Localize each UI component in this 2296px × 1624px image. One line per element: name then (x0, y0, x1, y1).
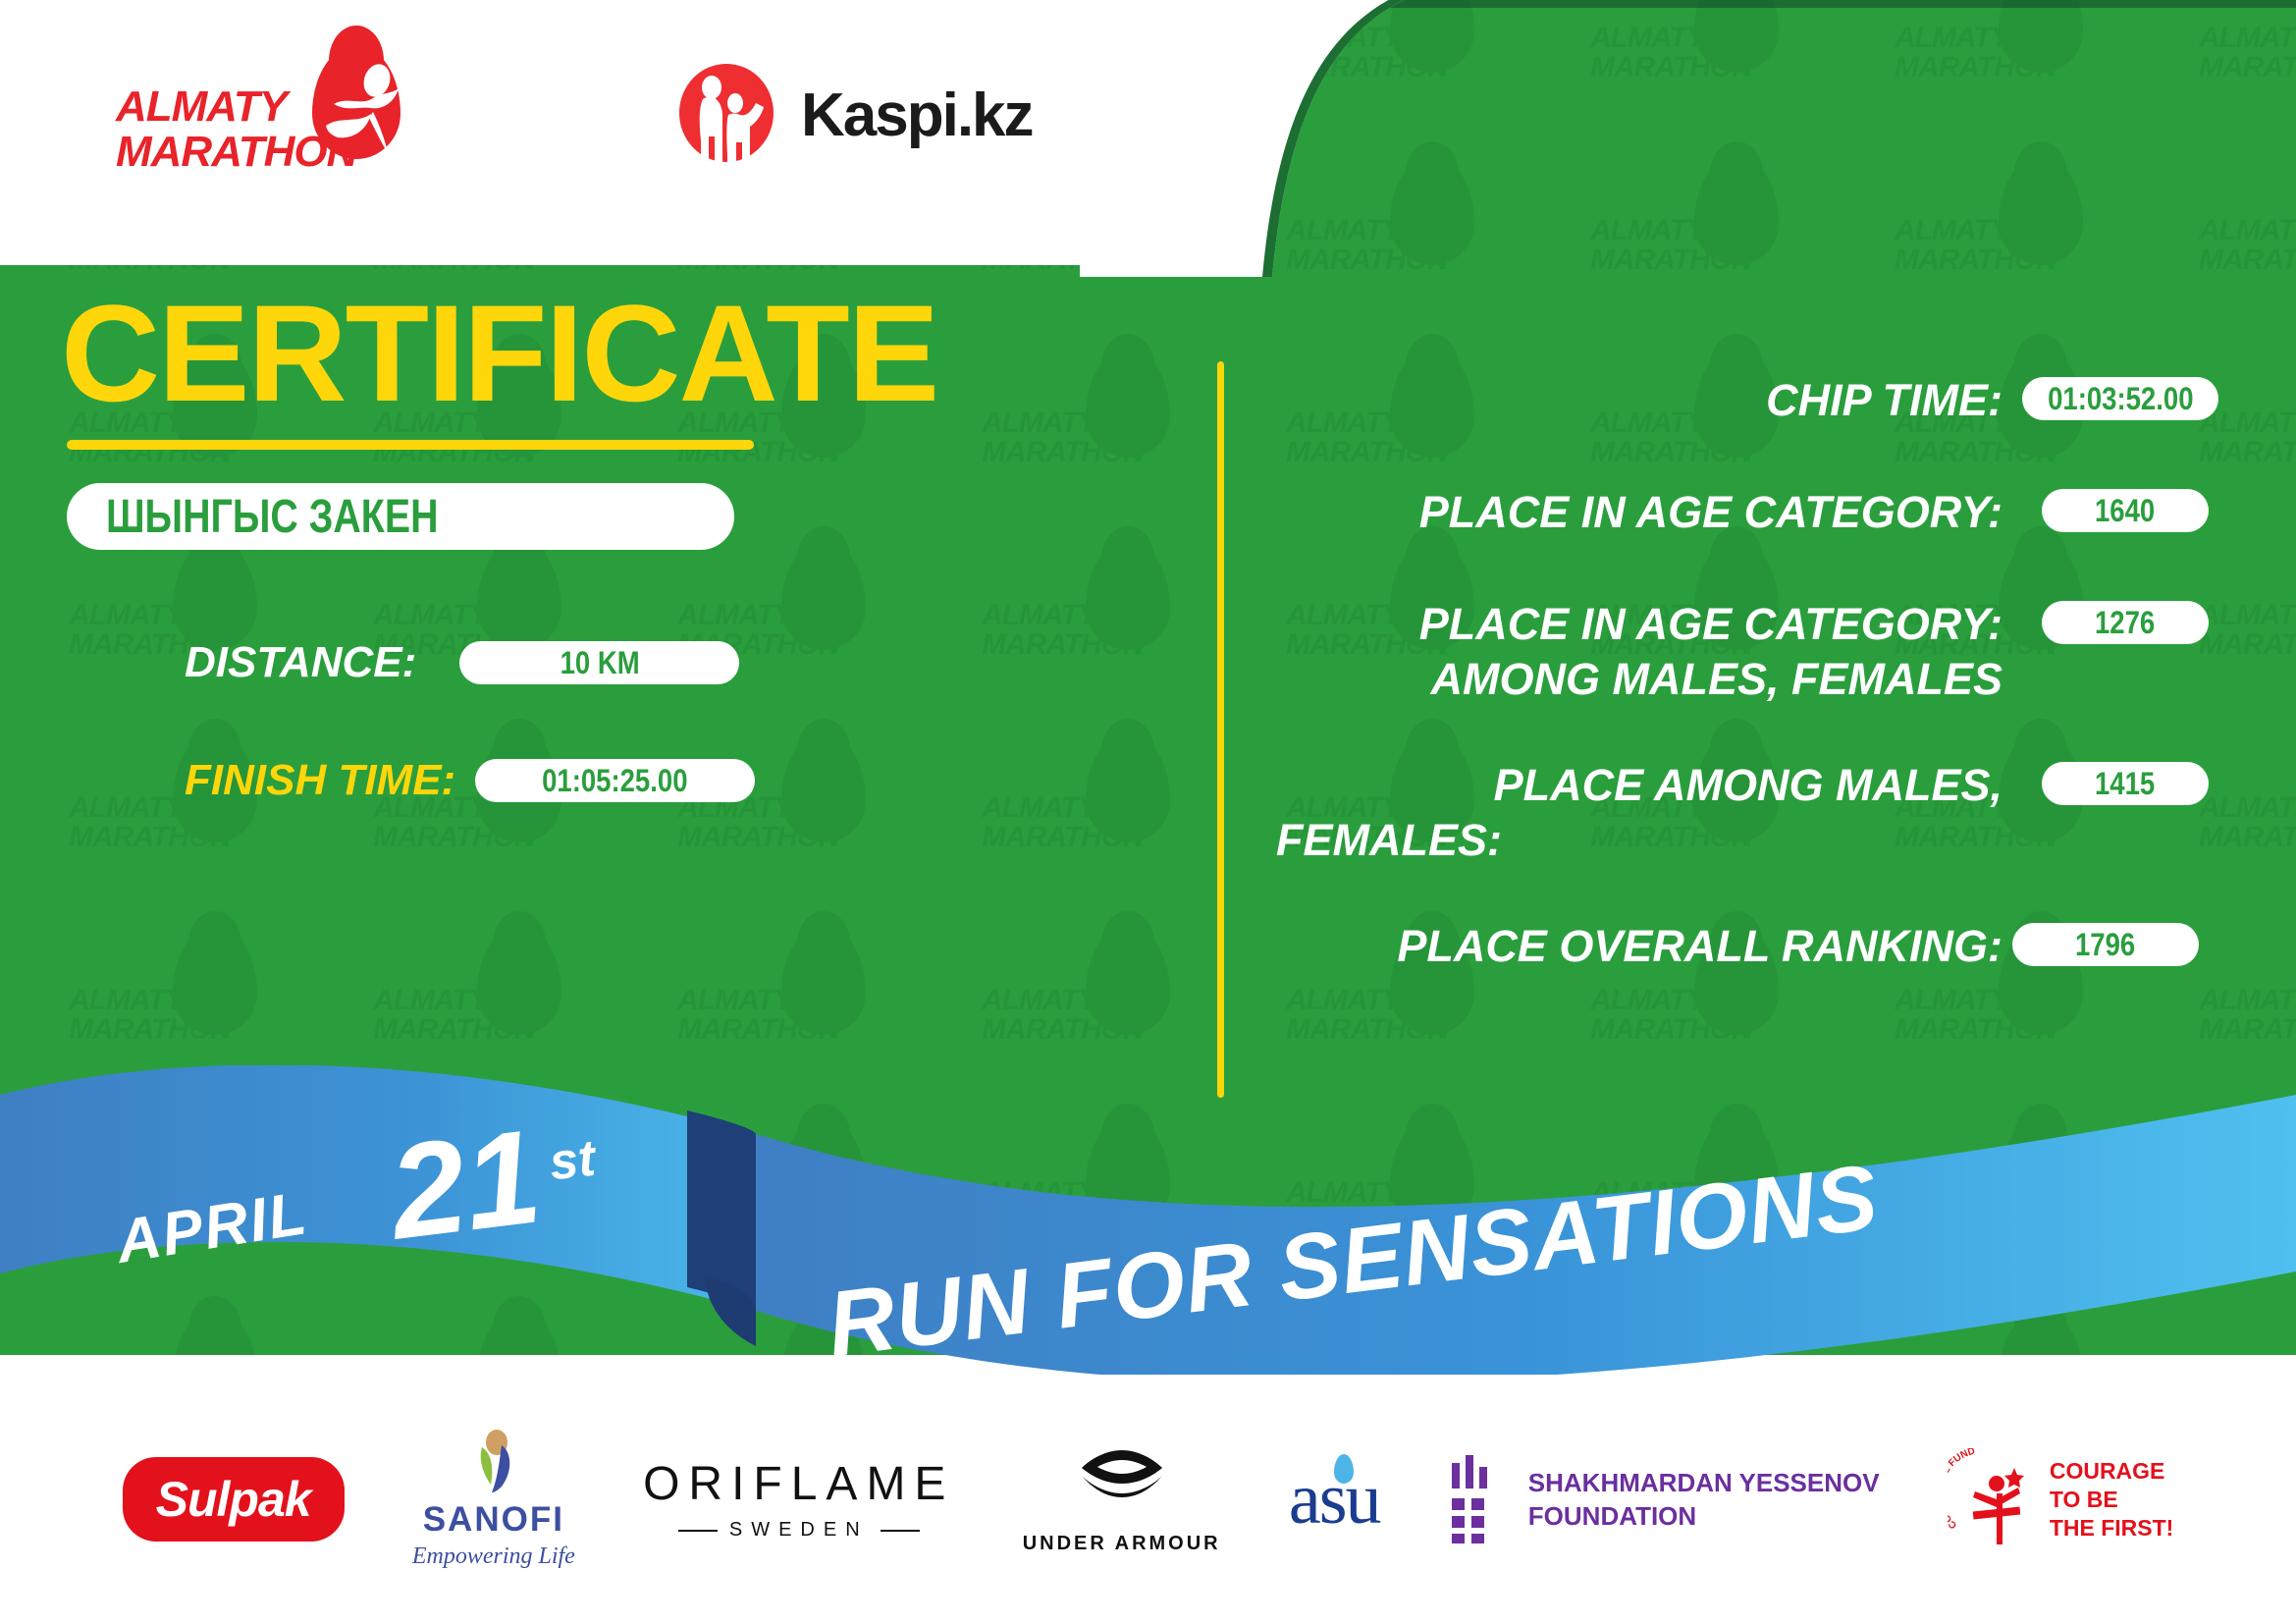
overall-ranking-value: 1796 (2075, 927, 2135, 963)
distance-pill: 10 KM (459, 641, 739, 684)
yessenov-line-1: SHAKHMARDAN YESSENOV (1528, 1466, 1880, 1499)
yessenov-wordmark: SHAKHMARDAN YESSENOV FOUNDATION (1528, 1466, 1880, 1533)
result-row-overall-ranking: PLACE OVERALL RANKING: 1796 (1276, 919, 2277, 998)
results-column: CHIP TIME: 01:03:52.00 PLACE IN AGE CATE… (1276, 373, 2277, 1031)
chip-time-label: CHIP TIME: (1276, 373, 2002, 428)
sponsor-sulpak: Sulpak (123, 1457, 345, 1542)
under-armour-wordmark: UNDER ARMOUR (1023, 1533, 1221, 1555)
sanofi-tagline: Empowering Life (412, 1543, 575, 1570)
kaspi-logo: Kaspi.kz (679, 61, 1033, 169)
column-divider (1217, 361, 1224, 1098)
page-title: CERTIFICATE (61, 285, 937, 422)
place-age-category-gender-value: 1276 (2095, 605, 2155, 641)
overall-ranking-pill: 1796 (2012, 923, 2199, 966)
place-age-category-gender-pill: 1276 (2042, 601, 2209, 644)
ribbon-day: 21 (383, 1109, 547, 1259)
place-among-gender-label-line2: FEMALES: (1276, 813, 2002, 868)
sponsor-yessenov-foundation: SHAKHMARDAN YESSENOV FOUNDATION (1448, 1455, 1880, 1543)
oriflame-subtitle-row: SWEDEN (678, 1519, 920, 1542)
kaspi-people-icon (679, 64, 774, 166)
finish-time-row: FINISH TIME: 01:05:25.00 (185, 756, 755, 805)
yessenov-line-2: FOUNDATION (1528, 1499, 1880, 1533)
certificate-page: ALMATYMARATHONALMATYMARATHONALMATYMARATH… (0, 0, 2296, 1624)
participant-name-field: ШЫНГЫС ЗАКЕН (67, 483, 734, 550)
sponsor-courage-fund: CORPORATE FUND COURAGE TO BE THE FIRST! (1948, 1448, 2174, 1550)
almaty-marathon-logo: ALMATY MARATHON (116, 61, 440, 179)
under-armour-logo-icon (1058, 1444, 1186, 1523)
place-age-category-pill: 1640 (2042, 489, 2209, 532)
overall-ranking-label: PLACE OVERALL RANKING: (1276, 919, 2002, 974)
result-row-place-age-category-gender: PLACE IN AGE CATEGORY: AMONG MALES, FEMA… (1276, 597, 2277, 725)
courage-line-1: COURAGE (2050, 1457, 2174, 1486)
place-age-category-gender-label-line2: AMONG MALES, FEMALES (1276, 652, 2002, 707)
chip-time-pill: 01:03:52.00 (2022, 377, 2218, 420)
svg-text:CORPORATE FUND: CORPORATE FUND (1948, 1448, 1976, 1531)
sponsor-oriflame: ORIFLAME SWEDEN (643, 1457, 954, 1542)
yessenov-foundation-logo-icon (1448, 1455, 1507, 1543)
result-row-chip-time: CHIP TIME: 01:03:52.00 (1276, 373, 2277, 452)
ribbon-ordinal: st (547, 1129, 598, 1193)
place-among-gender-pill: 1415 (2042, 762, 2209, 805)
oriflame-wordmark: ORIFLAME (643, 1457, 954, 1511)
title-underline (67, 440, 754, 450)
place-age-category-gender-label: PLACE IN AGE CATEGORY: AMONG MALES, FEMA… (1276, 597, 2002, 707)
kaspi-mark-icon (679, 64, 774, 166)
oriflame-rule-left (678, 1530, 718, 1532)
courage-logo-row: CORPORATE FUND COURAGE TO BE THE FIRST! (1948, 1448, 2174, 1550)
sanofi-wordmark: SANOFI (423, 1500, 564, 1540)
courage-line-3: THE FIRST! (2050, 1514, 2174, 1543)
place-among-gender-value: 1415 (2095, 766, 2155, 802)
sponsor-under-armour: UNDER ARMOUR (1023, 1444, 1221, 1555)
place-age-category-label: PLACE IN AGE CATEGORY: (1276, 485, 2002, 540)
yessenov-logo-row: SHAKHMARDAN YESSENOV FOUNDATION (1448, 1455, 1880, 1543)
courage-line-2: TO BE (2050, 1486, 2174, 1514)
distance-label: DISTANCE: (185, 638, 416, 687)
finish-time-pill: 01:05:25.00 (475, 759, 755, 802)
chip-time-value: 01:03:52.00 (2048, 381, 2193, 417)
place-among-gender-label-line1: PLACE AMONG MALES, (1276, 758, 2002, 813)
result-row-place-among-gender: PLACE AMONG MALES, FEMALES: 1415 (1276, 758, 2277, 886)
place-among-gender-label: PLACE AMONG MALES, FEMALES: (1276, 758, 2002, 868)
place-age-category-gender-label-line1: PLACE IN AGE CATEGORY: (1276, 597, 2002, 652)
sponsor-sanofi: SANOFI Empowering Life (412, 1430, 575, 1570)
oriflame-rule-right (881, 1530, 920, 1532)
result-row-place-age-category: PLACE IN AGE CATEGORY: 1640 (1276, 485, 2277, 564)
header-curve-shape (1080, 0, 1404, 277)
participant-name: ШЫНГЫС ЗАКЕН (106, 490, 439, 544)
courage-wordmark: COURAGE TO BE THE FIRST! (2050, 1457, 2174, 1543)
kaspi-wordmark: Kaspi.kz (801, 81, 1033, 150)
sponsor-asu: asu (1289, 1458, 1380, 1542)
sulpak-logo: Sulpak (123, 1457, 345, 1542)
sanofi-logo-icon (464, 1430, 523, 1494)
distance-row: DISTANCE: 10 KM (185, 638, 739, 687)
distance-value: 10 KM (560, 645, 639, 681)
place-age-category-value: 1640 (2095, 493, 2155, 529)
asu-wordmark: asu (1289, 1458, 1380, 1542)
courage-to-be-the-first-logo-icon: CORPORATE FUND (1948, 1448, 2038, 1550)
runner-icon (318, 55, 412, 171)
finish-time-value: 01:05:25.00 (542, 763, 687, 799)
oriflame-subtitle: SWEDEN (729, 1519, 869, 1542)
finish-time-label: FINISH TIME: (185, 756, 455, 805)
sponsor-bar: Sulpak SANOFI Empowering Life ORIFLAME S… (0, 1375, 2296, 1624)
